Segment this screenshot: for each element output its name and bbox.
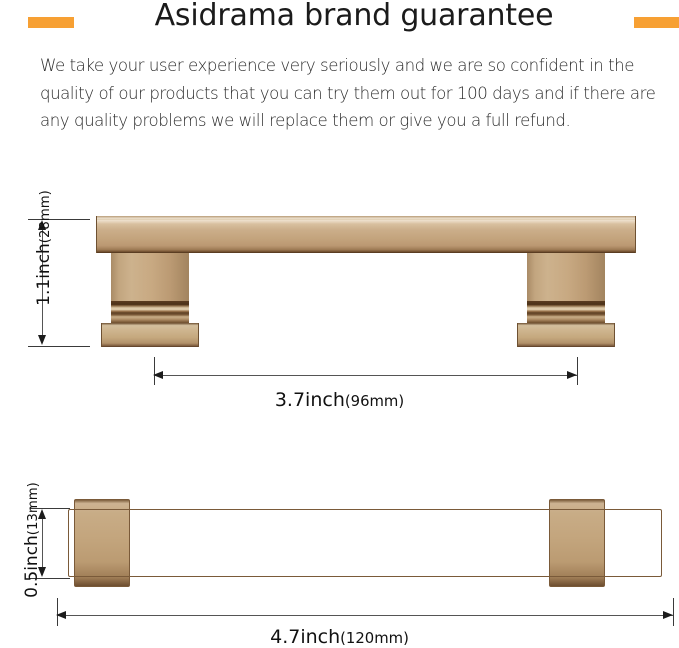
height-value: 1.1inch	[34, 243, 54, 306]
cc-unit: (96mm)	[345, 393, 404, 410]
cc-dimension-label: 3.7inch(96mm)	[0, 389, 679, 411]
leg-base-plate	[101, 323, 199, 347]
depth-value: 0.5inch	[22, 535, 42, 598]
depth-unit: (13mm)	[26, 482, 41, 535]
leg-post	[527, 253, 605, 301]
handle-bar-body	[68, 509, 662, 577]
leg-base-plate	[517, 323, 615, 347]
length-value: 4.7inch	[270, 626, 340, 648]
cc-dimension-line	[155, 375, 577, 376]
leg-post	[111, 253, 189, 301]
arrow-down-icon	[38, 335, 46, 345]
grip-bar	[96, 220, 636, 253]
leg-decorative-bands	[111, 301, 189, 323]
cc-value: 3.7inch	[275, 389, 345, 411]
arrow-right-icon	[567, 371, 577, 379]
length-dimension-label: 4.7inch(120mm)	[0, 626, 679, 648]
arrow-left-icon	[56, 611, 66, 619]
length-witness-line-right	[673, 598, 674, 626]
depth-dimension-line	[42, 513, 43, 573]
arrow-right-icon	[663, 611, 673, 619]
leg-decorative-bands	[527, 301, 605, 323]
cc-witness-line-right	[577, 357, 578, 385]
depth-dimension-label: 0.5inch(13mm)	[22, 460, 42, 620]
arrow-left-icon	[153, 371, 163, 379]
height-dimension-label: 1.1inch(28mm)	[34, 168, 54, 328]
length-dimension-line	[58, 615, 673, 616]
height-witness-line-lower	[28, 346, 90, 347]
length-unit: (120mm)	[340, 630, 409, 647]
height-unit: (28mm)	[38, 190, 53, 243]
